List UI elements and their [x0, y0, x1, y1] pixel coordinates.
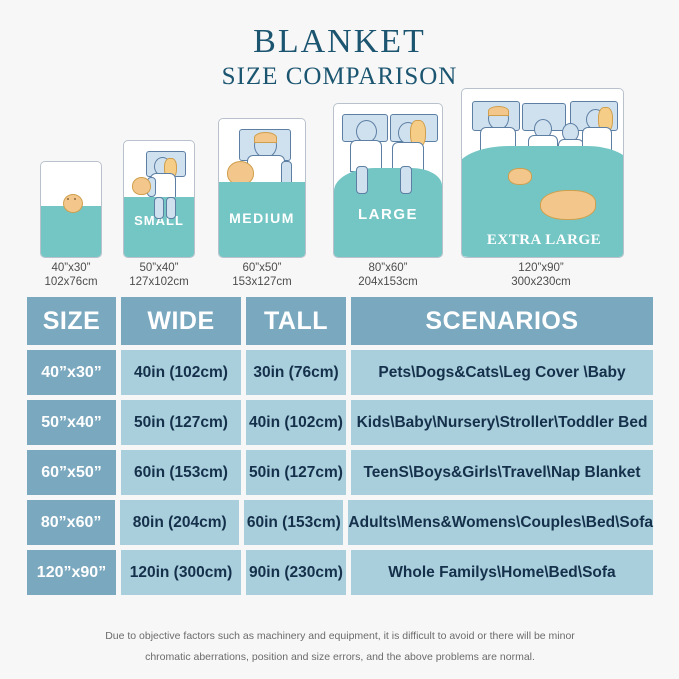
caption-cm: 102x76cm — [26, 275, 116, 289]
cell-size: 40”x30” — [27, 350, 116, 395]
disclaimer-note: Due to objective factors such as machine… — [40, 626, 640, 668]
illustration-120x90: EXTRA LARGE — [461, 88, 624, 258]
blanket-shape — [41, 206, 101, 257]
bed-card: SMALL — [123, 140, 195, 258]
illustration-80x60: LARGE — [333, 103, 443, 258]
cell-size: 60”x50” — [27, 450, 116, 495]
caption-inches: 120”x90” — [495, 261, 587, 275]
cell-size: 50”x40” — [27, 400, 116, 445]
leg — [356, 166, 368, 194]
cat-eye-right — [74, 198, 76, 200]
cell-scenarios: Adults\Mens&Womens\Couples\Bed\Sofa — [348, 500, 653, 545]
cell-wide: 40in (102cm) — [121, 350, 241, 395]
disclaimer-line-1: Due to objective factors such as machine… — [40, 626, 640, 647]
hair — [488, 106, 509, 116]
table-row: 60”x50” 60in (153cm) 50in (127cm) TeenS\… — [27, 450, 653, 495]
table-row: 50”x40” 50in (127cm) 40in (102cm) Kids\B… — [27, 400, 653, 445]
caption-inches: 50”x40” — [113, 261, 205, 275]
leg — [154, 197, 164, 219]
leg — [400, 166, 412, 194]
bed-card — [40, 161, 102, 258]
cell-wide: 60in (153cm) — [121, 450, 241, 495]
page-subtitle: SIZE COMPARISON — [0, 63, 679, 91]
caption-inches: 60”x50” — [216, 261, 308, 275]
illustration-label: EXTRA LARGE — [461, 232, 624, 249]
dog-icon — [132, 177, 151, 195]
header-scenarios: SCENARIOS — [351, 297, 653, 345]
table-header-row: SIZE WIDE TALL SCENARIOS — [27, 297, 653, 345]
caption-60x50: 60”x50” 153x127cm — [216, 261, 308, 289]
header-wide: WIDE — [121, 297, 241, 345]
bed-card: MEDIUM — [218, 118, 306, 258]
cell-scenarios: Whole Familys\Home\Bed\Sofa — [351, 550, 653, 595]
cat-icon — [63, 194, 83, 213]
cell-size: 120”x90” — [27, 550, 116, 595]
title-block: BLANKET SIZE COMPARISON — [0, 24, 679, 91]
caption-80x60: 80”x60” 204x153cm — [342, 261, 434, 289]
caption-cm: 300x230cm — [495, 275, 587, 289]
caption-cm: 204x153cm — [342, 275, 434, 289]
illustration-40x30 — [40, 161, 102, 258]
cell-tall: 30in (76cm) — [246, 350, 346, 395]
bed-card: EXTRA LARGE — [461, 88, 624, 258]
caption-cm: 127x102cm — [113, 275, 205, 289]
dog-icon-small — [508, 168, 532, 185]
caption-inches: 40”x30” — [26, 261, 116, 275]
cell-scenarios: Pets\Dogs&Cats\Leg Cover \Baby — [351, 350, 653, 395]
leg — [166, 197, 176, 219]
infographic-page: BLANKET SIZE COMPARISON SMALL — [0, 0, 679, 679]
page-title: BLANKET — [0, 24, 679, 60]
dog-icon — [227, 161, 254, 185]
cell-wide: 120in (300cm) — [121, 550, 241, 595]
cat-eye-left — [67, 198, 69, 200]
table-row: 80”x60” 80in (204cm) 60in (153cm) Adults… — [27, 500, 653, 545]
illustration-60x50: MEDIUM — [218, 118, 306, 258]
cell-scenarios: TeenS\Boys&Girls\Travel\Nap Blanket — [351, 450, 653, 495]
cell-tall: 40in (102cm) — [246, 400, 346, 445]
table-row: 120”x90” 120in (300cm) 90in (230cm) Whol… — [27, 550, 653, 595]
cell-tall: 60in (153cm) — [244, 500, 343, 545]
header-size: SIZE — [27, 297, 116, 345]
illustration-label: LARGE — [334, 206, 442, 223]
caption-50x40: 50”x40” 127x102cm — [113, 261, 205, 289]
blanket-shape: EXTRA LARGE — [461, 146, 624, 257]
bed-card: LARGE — [333, 103, 443, 258]
blanket-shape: LARGE — [334, 168, 442, 257]
illustration-50x40: SMALL — [123, 140, 195, 258]
size-table: SIZE WIDE TALL SCENARIOS 40”x30” 40in (1… — [27, 297, 653, 600]
caption-120x90: 120”x90” 300x230cm — [495, 261, 587, 289]
header-tall: TALL — [246, 297, 346, 345]
cell-size: 80”x60” — [27, 500, 115, 545]
illustration-label: MEDIUM — [219, 210, 305, 226]
cell-wide: 80in (204cm) — [120, 500, 239, 545]
illustration-strip: SMALL MEDIUM — [0, 88, 679, 258]
cell-wide: 50in (127cm) — [121, 400, 241, 445]
cell-tall: 90in (230cm) — [246, 550, 346, 595]
blanket-shape: MEDIUM — [219, 182, 305, 257]
cell-scenarios: Kids\Baby\Nursery\Stroller\Toddler Bed — [351, 400, 653, 445]
disclaimer-line-2: chromatic aberrations, position and size… — [40, 647, 640, 668]
caption-inches: 80”x60” — [342, 261, 434, 275]
dog-icon-large — [540, 190, 596, 220]
cell-tall: 50in (127cm) — [246, 450, 346, 495]
caption-cm: 153x127cm — [216, 275, 308, 289]
caption-40x30: 40”x30” 102x76cm — [26, 261, 116, 289]
table-row: 40”x30” 40in (102cm) 30in (76cm) Pets\Do… — [27, 350, 653, 395]
hair — [254, 132, 277, 143]
